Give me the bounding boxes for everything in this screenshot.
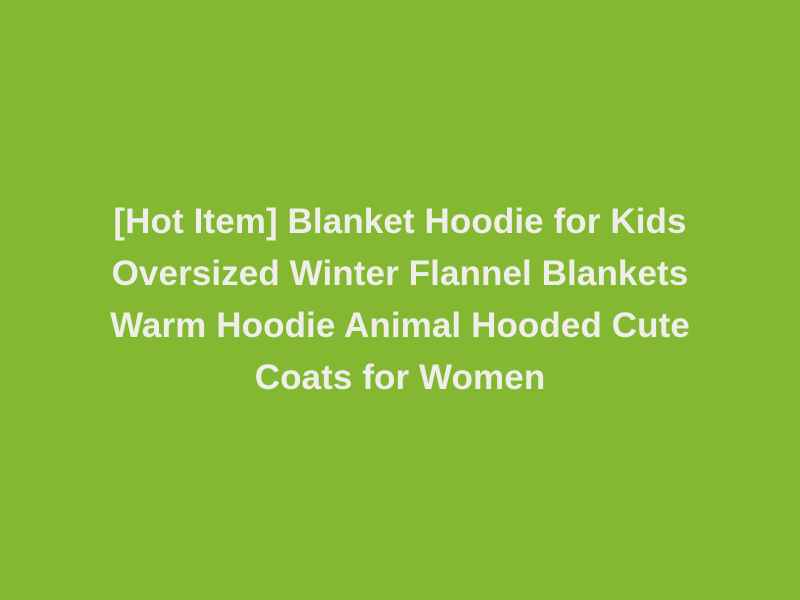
- product-placeholder-card: [Hot Item] Blanket Hoodie for Kids Overs…: [0, 0, 800, 600]
- page-title: [Hot Item] Blanket Hoodie for Kids Overs…: [76, 196, 724, 404]
- title-block: [Hot Item] Blanket Hoodie for Kids Overs…: [76, 196, 724, 404]
